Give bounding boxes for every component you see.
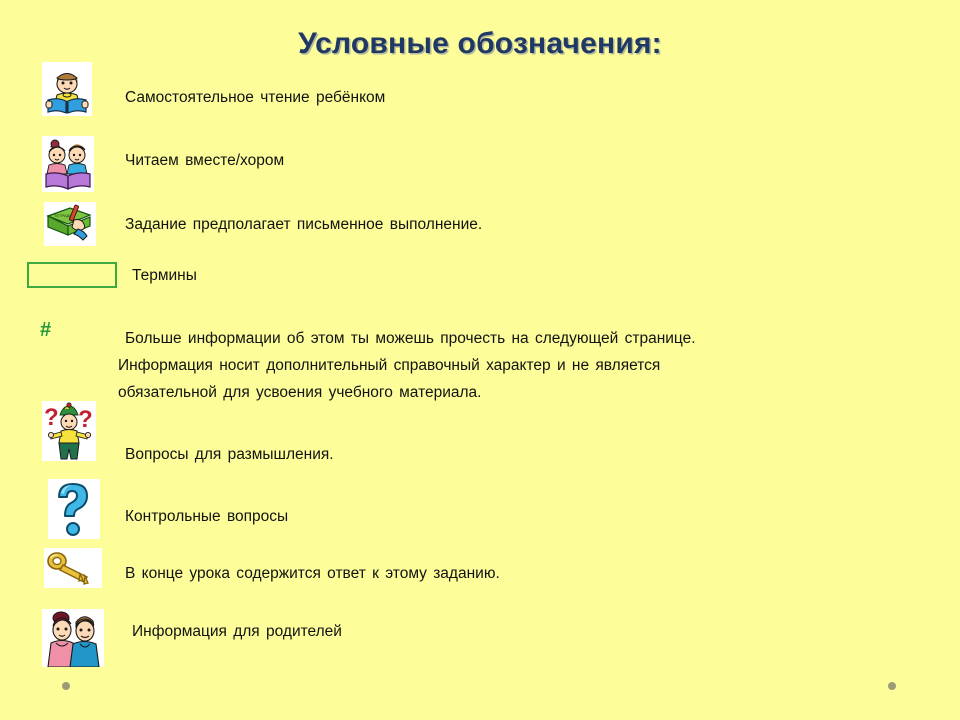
additional-info-paragraph: Больше информации об этом ты можешь проч…: [118, 325, 918, 406]
legend-label-written-task: Задание предполагает письменное выполнен…: [125, 216, 482, 234]
bottom-right-dot: [888, 682, 896, 690]
golden-key-icon: [44, 548, 102, 588]
boy-with-question-marks-icon: ? ?: [42, 401, 96, 461]
svg-text:?: ?: [78, 406, 93, 433]
legend-label-control-questions: Контрольные вопросы: [125, 508, 288, 526]
legend-label-reflection-questions: Вопросы для размышления.: [125, 446, 334, 464]
legend-label-read-together: Читаем вместе/хором: [125, 152, 284, 170]
paragraph-line-1: Больше информации об этом ты можешь проч…: [118, 325, 918, 352]
child-reading-book-icon: [42, 62, 92, 116]
legend-label-parents-info: Информация для родителей: [132, 623, 342, 641]
paragraph-line-2: Информация носит дополнительный справочн…: [118, 352, 918, 379]
bottom-left-dot: [62, 682, 70, 690]
slide-canvas: Условные обозначения: Самостоятельное чт…: [0, 0, 960, 720]
two-children-reading-book-icon: [42, 136, 94, 192]
blue-question-mark-icon: [48, 479, 100, 539]
legend-label-terms: Термины: [132, 267, 197, 285]
legend-label-self-reading: Самостоятельное чтение ребёнком: [125, 89, 385, 107]
empty-green-box-icon: [27, 262, 117, 288]
page-title: Условные обозначения:: [0, 27, 960, 61]
hash-symbol-icon: #: [40, 319, 51, 342]
paragraph-line-3: обязательной для усвоения учебного матер…: [118, 379, 918, 406]
svg-text:?: ?: [44, 404, 59, 431]
legend-label-answer-key: В конце урока содержится ответ к этому з…: [125, 565, 500, 583]
parents-couple-icon: [42, 609, 104, 667]
notebook-with-pencil-icon: ТЕТРАДЬ: [44, 202, 96, 246]
